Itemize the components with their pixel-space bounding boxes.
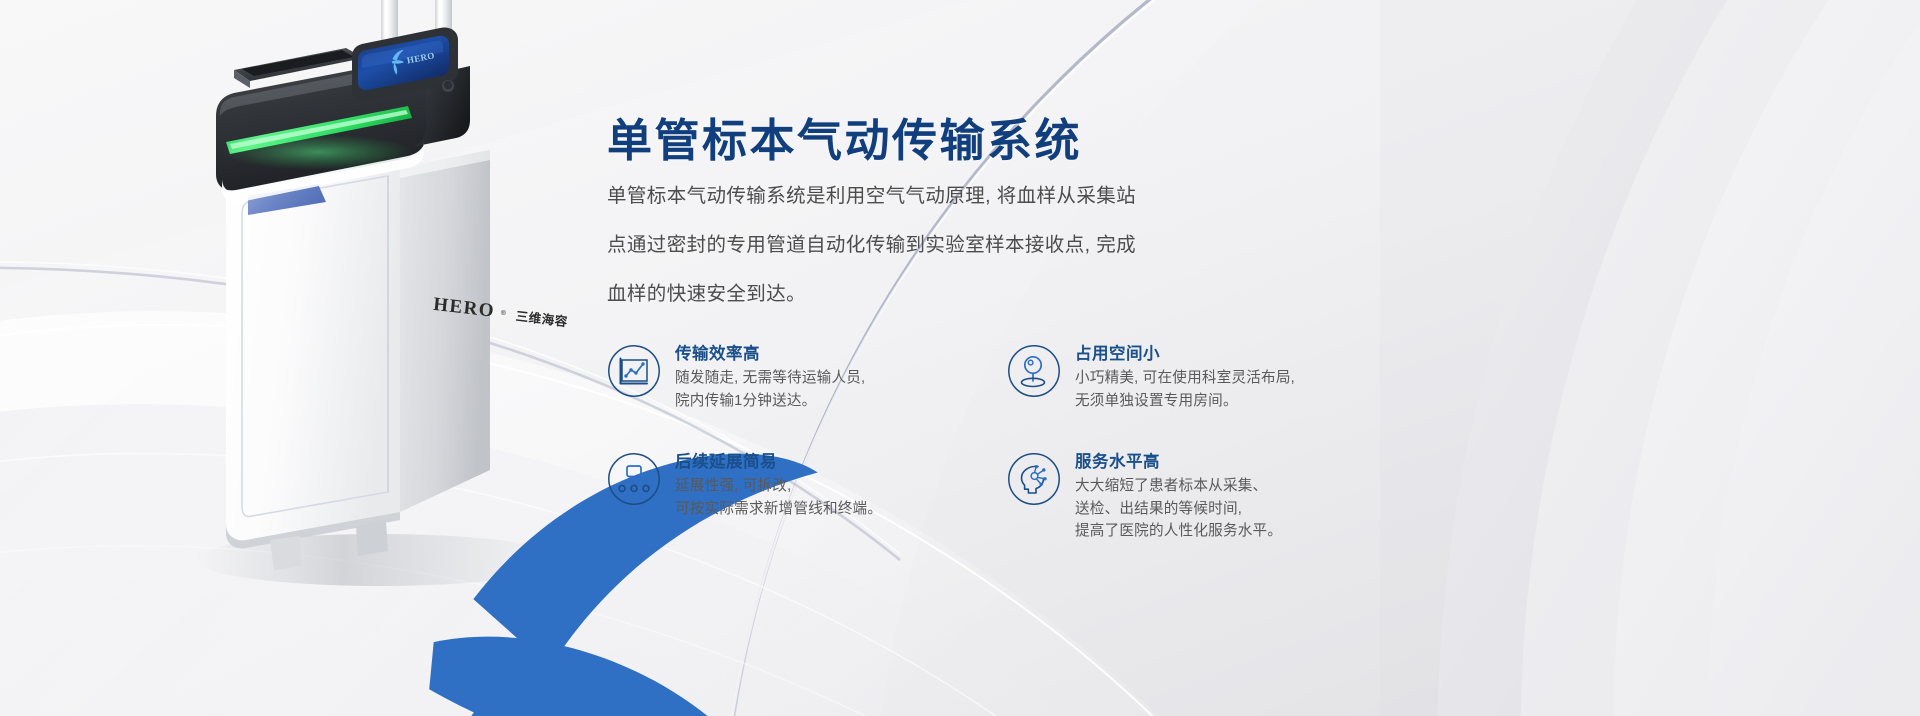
- feature-text: 服务水平高 大大缩短了患者标本从采集、 送检、出结果的等候时间, 提高了医院的人…: [1075, 450, 1282, 543]
- feature-desc-line: 随发随走, 无需等待运输人员,: [675, 367, 865, 390]
- feature-title: 后续延展简易: [675, 451, 882, 473]
- feature-desc-line: 可按实际需求新增管线和终端。: [675, 498, 882, 521]
- feature-desc-line: 大大缩短了患者标本从采集、: [1075, 475, 1282, 498]
- feature-text: 传输效率高 随发随走, 无需等待运输人员, 院内传输1分钟送达。: [675, 342, 865, 412]
- feature-title: 传输效率高: [675, 343, 865, 365]
- feature-description: 大大缩短了患者标本从采集、 送检、出结果的等候时间, 提高了医院的人性化服务水平…: [1075, 475, 1282, 543]
- feature-description: 随发随走, 无需等待运输人员, 院内传输1分钟送达。: [675, 367, 865, 412]
- chart-trend-icon: [607, 344, 661, 398]
- product-banner: HERO: [0, 0, 1920, 716]
- banner-content: 单管标本气动传输系统 单管标本气动传输系统是利用空气气动原理, 将血样从采集站 …: [607, 0, 1847, 716]
- feature-description: 延展性强, 可拆改, 可按实际需求新增管线和终端。: [675, 475, 882, 520]
- feature-item-small-footprint: 占用空间小 小巧精美, 可在使用科室灵活布局, 无须单独设置专用房间。: [1007, 342, 1307, 450]
- feature-desc-line: 无须单独设置专用房间。: [1075, 390, 1295, 413]
- feature-title: 占用空间小: [1075, 343, 1295, 365]
- network-tree-icon: [607, 452, 661, 506]
- feature-text: 后续延展简易 延展性强, 可拆改, 可按实际需求新增管线和终端。: [675, 450, 882, 520]
- feature-text: 占用空间小 小巧精美, 可在使用科室灵活布局, 无须单独设置专用房间。: [1075, 342, 1295, 412]
- feature-desc-line: 延展性强, 可拆改,: [675, 475, 882, 498]
- hero-droplet-icon: [405, 291, 429, 315]
- intro-line-2: 点通过密封的专用管道自动化传输到实验室样本接收点, 完成: [607, 221, 1267, 270]
- product-image: HERO: [150, 0, 670, 716]
- feature-item-easy-expansion: 后续延展简易 延展性强, 可拆改, 可按实际需求新增管线和终端。: [607, 450, 1007, 543]
- feature-title: 服务水平高: [1075, 451, 1282, 473]
- feature-item-service-level: 服务水平高 大大缩短了患者标本从采集、 送检、出结果的等候时间, 提高了医院的人…: [1007, 450, 1307, 543]
- page-title: 单管标本气动传输系统: [607, 118, 1082, 163]
- feature-item-transfer-efficiency: 传输效率高 随发随走, 无需等待运输人员, 院内传输1分钟送达。: [607, 342, 1007, 450]
- intro-paragraph: 单管标本气动传输系统是利用空气气动原理, 将血样从采集站 点通过密封的专用管道自…: [607, 172, 1267, 319]
- intro-line-1: 单管标本气动传输系统是利用空气气动原理, 将血样从采集站: [607, 172, 1267, 221]
- feature-desc-line: 小巧精美, 可在使用科室灵活布局,: [1075, 367, 1295, 390]
- feature-list: 传输效率高 随发随走, 无需等待运输人员, 院内传输1分钟送达。: [607, 342, 1307, 543]
- feature-description: 小巧精美, 可在使用科室灵活布局, 无须单独设置专用房间。: [1075, 367, 1295, 412]
- intro-line-3: 血样的快速安全到达。: [607, 270, 1267, 319]
- head-ai-icon: [1007, 452, 1061, 506]
- feature-desc-line: 院内传输1分钟送达。: [675, 390, 865, 413]
- location-pin-icon: [1007, 344, 1061, 398]
- feature-desc-line: 提高了医院的人性化服务水平。: [1075, 520, 1282, 543]
- feature-desc-line: 送检、出结果的等候时间,: [1075, 498, 1282, 521]
